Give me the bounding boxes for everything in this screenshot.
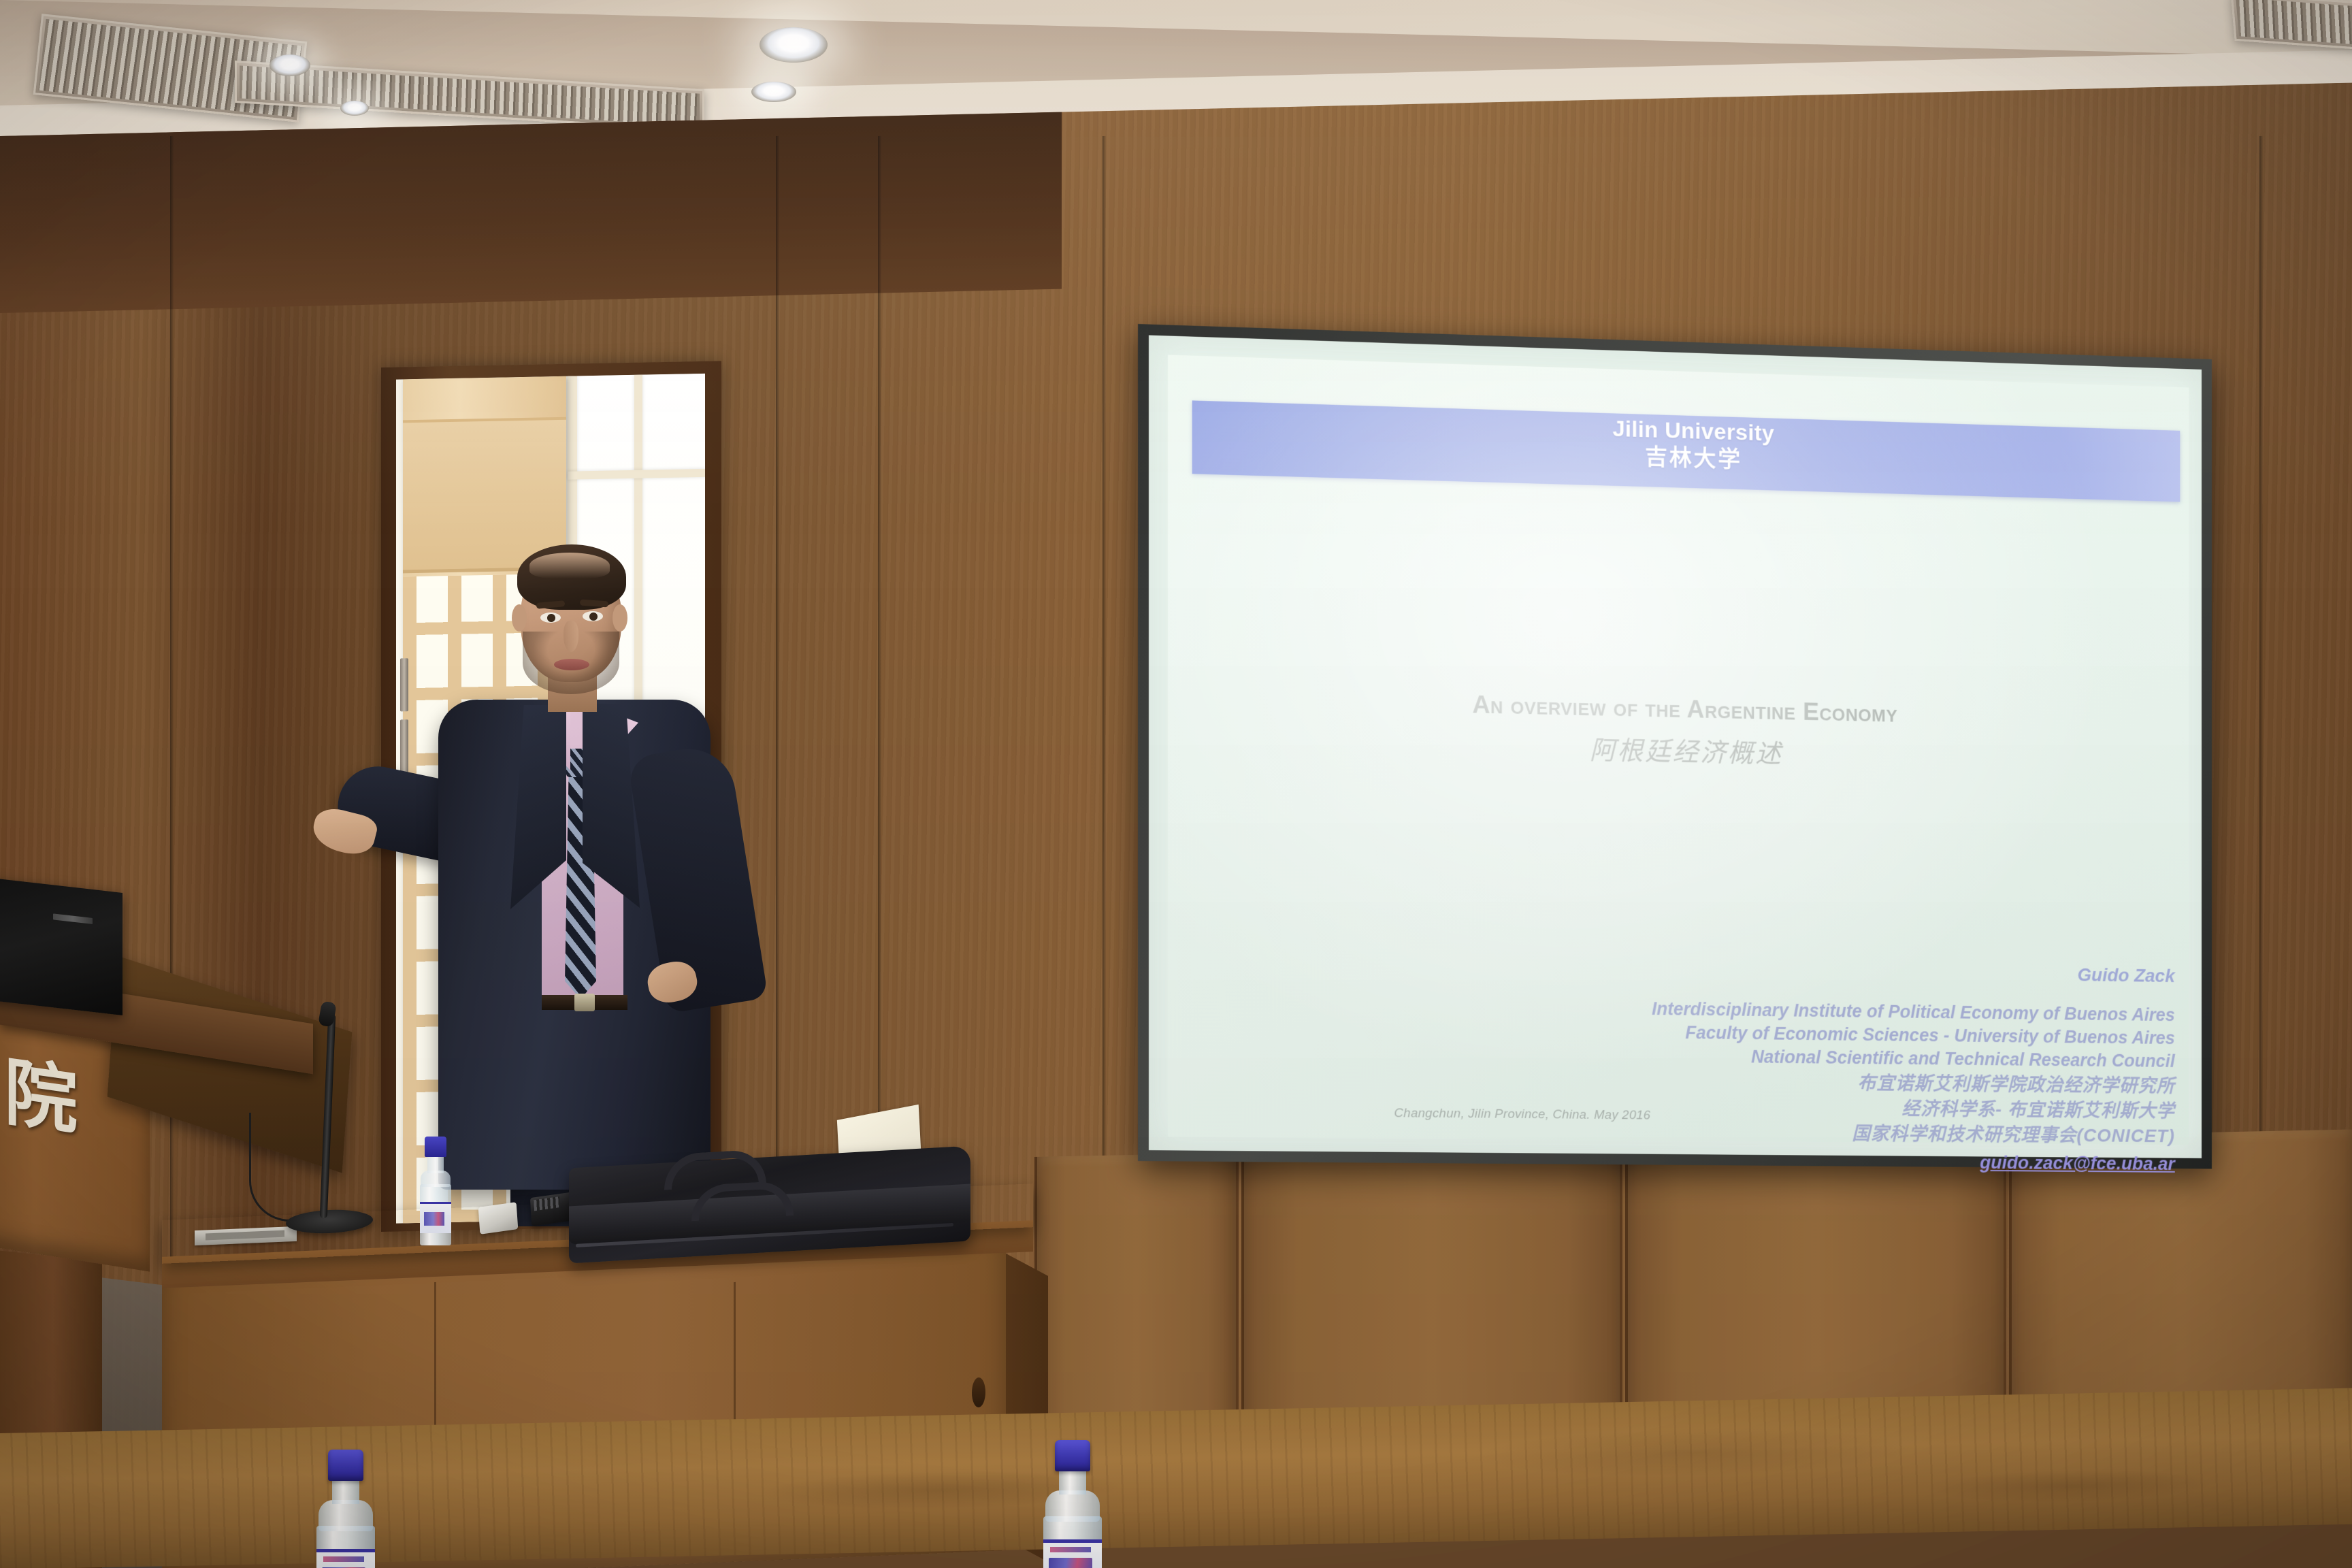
presenter-ear-left xyxy=(512,604,527,632)
slide-title-block: An overview of the Argentine Economy 阿根廷… xyxy=(1168,684,2189,779)
presenter-mouth xyxy=(554,659,589,670)
slide-author-block: Guido Zack Interdisciplinary Institute o… xyxy=(1652,958,2175,1174)
door-hinge-lower-icon xyxy=(400,719,408,772)
presenter-eye-right xyxy=(583,611,603,621)
bottle-cap-left-icon xyxy=(328,1450,363,1481)
presenter-eye-left xyxy=(540,612,561,623)
bottle-cap-right-icon xyxy=(1055,1440,1090,1471)
presenter-ear-right xyxy=(612,604,627,632)
presenter-nose xyxy=(563,621,578,652)
slide-email-link[interactable]: guido.zack@fce.uba.ar xyxy=(1980,1151,2175,1174)
slide-affiliation-zh-1: 布宜诺斯艾利斯学院政治经济学研究所 xyxy=(1652,1069,2175,1098)
wall-panel-1 xyxy=(1034,1153,1239,1436)
presenter-belt-buckle xyxy=(574,994,595,1011)
water-bottle-left[interactable] xyxy=(313,1450,378,1568)
presenter-hair xyxy=(517,544,626,610)
lectern-emblem-character: 院 xyxy=(4,1055,78,1139)
slide-affiliation-zh-3: 国家科学和技术研究理事会(CONICET) xyxy=(1652,1120,2175,1147)
title-slide: Jilin University 吉林大学 An overview of the… xyxy=(1168,355,2189,1145)
bottle-cap-icon xyxy=(425,1137,446,1157)
lecture-hall-scene: Jilin University 吉林大学 An overview of the… xyxy=(0,0,2352,1568)
slide-affiliation-en-3: National Scientific and Technical Resear… xyxy=(1652,1045,2175,1073)
projection-screen[interactable]: Jilin University 吉林大学 An overview of the… xyxy=(1138,324,2212,1169)
slide-affiliation-zh-2: 经济科学系- 布宜诺斯艾利斯大学 xyxy=(1652,1094,2175,1123)
screen-frame: Jilin University 吉林大学 An overview of the… xyxy=(1138,324,2212,1169)
small-white-object[interactable] xyxy=(478,1202,519,1235)
slide-venue-line: Changchun, Jilin Province, China. May 20… xyxy=(1394,1106,1650,1123)
water-bottle-table[interactable] xyxy=(418,1137,453,1245)
downlight-3-icon xyxy=(759,27,828,63)
wall-panel-3 xyxy=(1625,1137,2006,1424)
wall-panel-2 xyxy=(1241,1145,1622,1432)
water-bottle-right[interactable] xyxy=(1040,1440,1105,1568)
screen-surface: Jilin University 吉林大学 An overview of the… xyxy=(1149,336,2202,1158)
door-hinge-upper-icon xyxy=(400,658,408,711)
downlight-1-icon xyxy=(269,54,310,76)
monitor-brand-logo-icon xyxy=(53,913,93,924)
downlight-2-icon xyxy=(340,101,369,116)
wall-upper-dark-band xyxy=(0,112,1062,313)
slide-banner: Jilin University 吉林大学 xyxy=(1192,400,2180,502)
slide-author-name: Guido Zack xyxy=(1652,958,2175,987)
lectern-monitor[interactable] xyxy=(0,877,122,1015)
downlight-4-icon xyxy=(751,82,796,102)
